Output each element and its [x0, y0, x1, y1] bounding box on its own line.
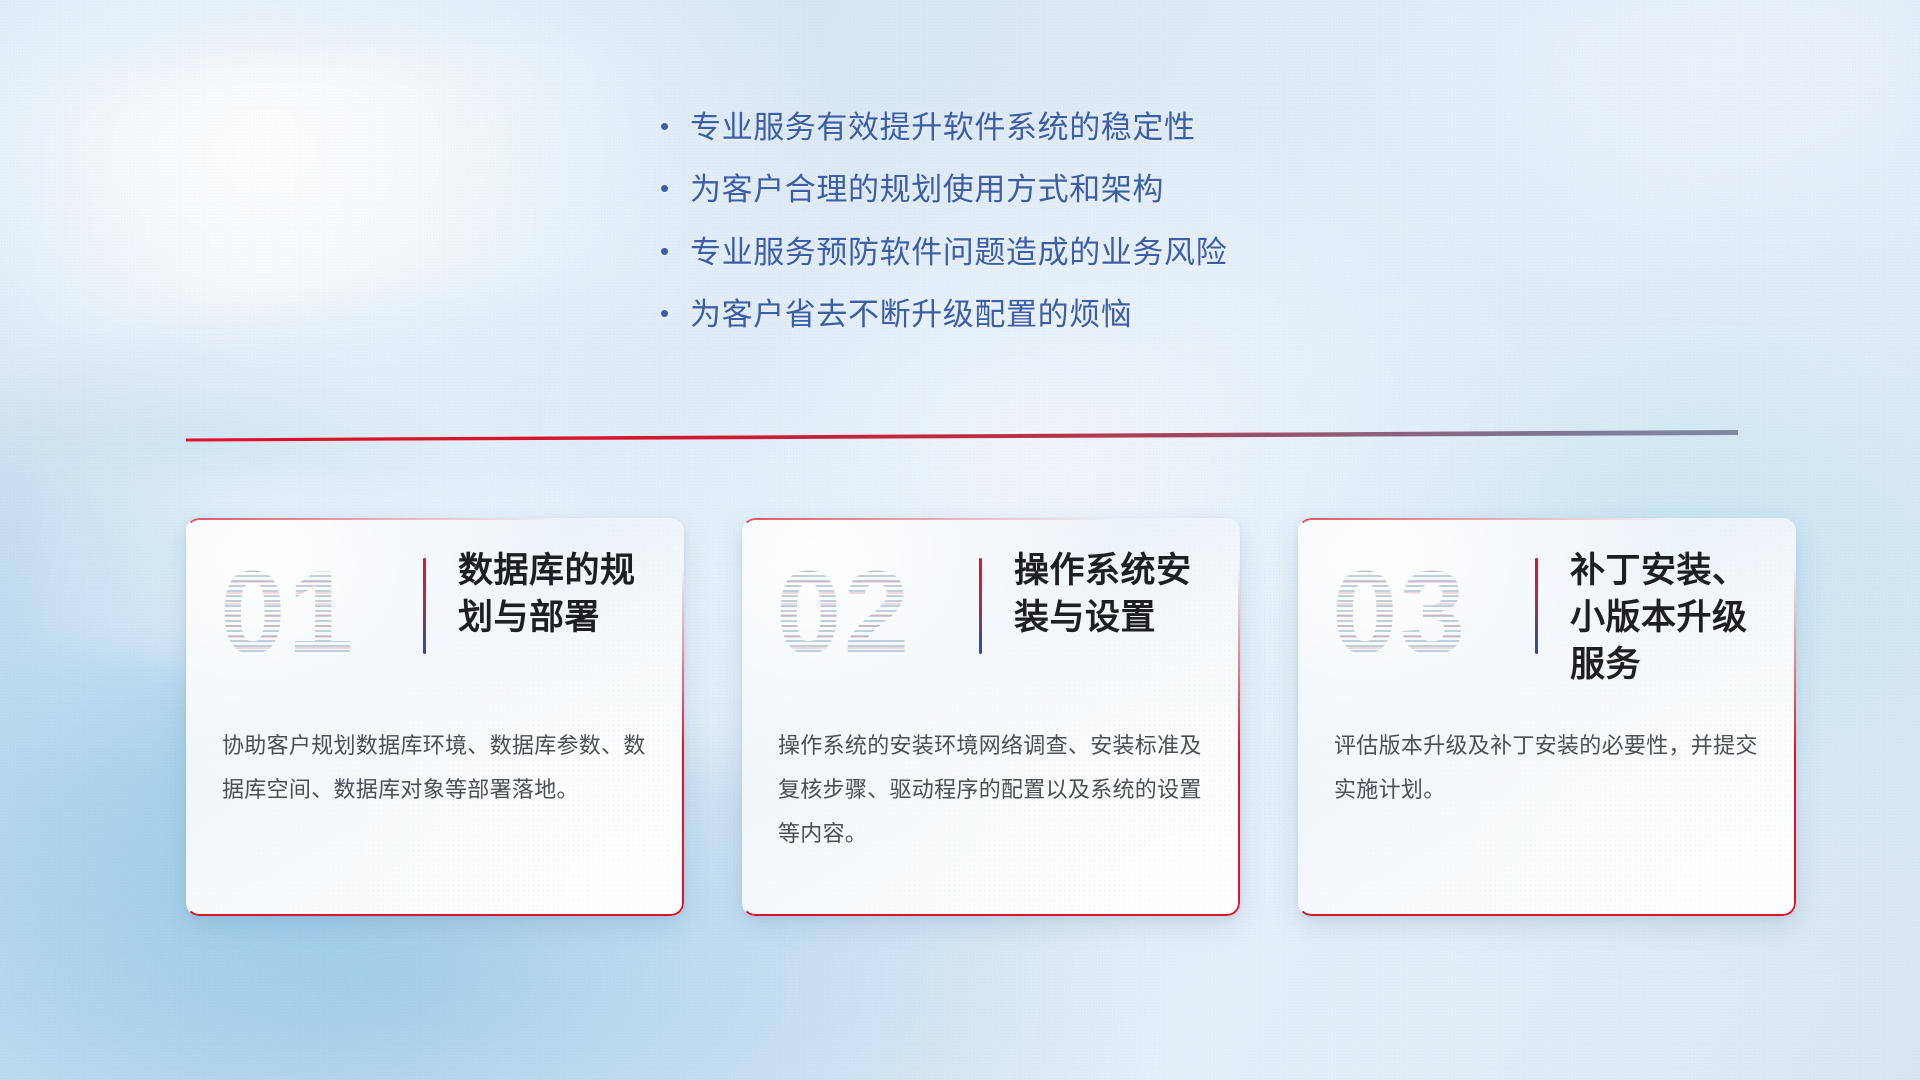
service-card-row: 01 01 数据库的规划与部署 协助客户规划数据库环境、数据库参数、数据库空间、…	[186, 518, 1798, 916]
bullet-item: • 为客户合理的规划使用方式和架构	[660, 170, 1227, 210]
card-description: 评估版本升级及补丁安装的必要性，并提交实施计划。	[1334, 724, 1760, 812]
bullet-dot-icon: •	[660, 108, 690, 146]
bullet-item: • 专业服务预防软件问题造成的业务风险	[660, 233, 1227, 273]
card-title: 操作系统安装与设置	[1014, 548, 1214, 642]
bullet-text: 专业服务有效提升软件系统的稳定性	[690, 108, 1227, 148]
bullet-text: 为客户省去不断升级配置的烦恼	[690, 295, 1227, 335]
service-card-01[interactable]: 01 01 数据库的规划与部署 协助客户规划数据库环境、数据库参数、数据库空间、…	[186, 518, 684, 916]
service-card-02[interactable]: 02 02 操作系统安装与设置 操作系统的安装环境网络调查、安装标准及复核步骤、…	[742, 518, 1240, 916]
card-number-watermark: 01	[220, 550, 396, 676]
card-header: 01 01 数据库的规划与部署	[186, 518, 684, 696]
card-title-divider-icon	[423, 558, 426, 654]
benefits-bullet-list: • 专业服务有效提升软件系统的稳定性 • 为客户合理的规划使用方式和架构 • 专…	[660, 108, 1227, 357]
card-title: 数据库的规划与部署	[458, 548, 658, 642]
card-header: 03 03 补丁安装、小版本升级服务	[1298, 518, 1796, 696]
bullet-dot-icon: •	[660, 233, 690, 271]
bullet-dot-icon: •	[660, 170, 690, 208]
card-header: 02 02 操作系统安装与设置	[742, 518, 1240, 696]
card-number-watermark-tint: 01	[220, 550, 396, 676]
card-title-divider-icon	[979, 558, 982, 654]
card-description: 协助客户规划数据库环境、数据库参数、数据库空间、数据库对象等部署落地。	[222, 724, 648, 812]
card-number-watermark: 02	[776, 550, 952, 676]
card-number-watermark: 03	[1332, 550, 1508, 676]
card-number-watermark-tint: 03	[1332, 550, 1508, 676]
card-description: 操作系统的安装环境网络调查、安装标准及复核步骤、驱动程序的配置以及系统的设置等内…	[778, 724, 1204, 856]
divider-shape-icon	[186, 424, 1738, 448]
card-title-divider-icon	[1535, 558, 1538, 654]
service-card-03[interactable]: 03 03 补丁安装、小版本升级服务 评估版本升级及补丁安装的必要性，并提交实施…	[1298, 518, 1796, 916]
section-divider	[186, 424, 1738, 448]
card-number-watermark-tint: 02	[776, 550, 952, 676]
bullet-text: 为客户合理的规划使用方式和架构	[690, 170, 1227, 210]
bullet-dot-icon: •	[660, 295, 690, 333]
bullet-text: 专业服务预防软件问题造成的业务风险	[690, 233, 1227, 273]
slide-content: • 专业服务有效提升软件系统的稳定性 • 为客户合理的规划使用方式和架构 • 专…	[0, 0, 1920, 1080]
bullet-item: • 专业服务有效提升软件系统的稳定性	[660, 108, 1227, 148]
bullet-item: • 为客户省去不断升级配置的烦恼	[660, 295, 1227, 335]
card-title: 补丁安装、小版本升级服务	[1570, 548, 1770, 689]
